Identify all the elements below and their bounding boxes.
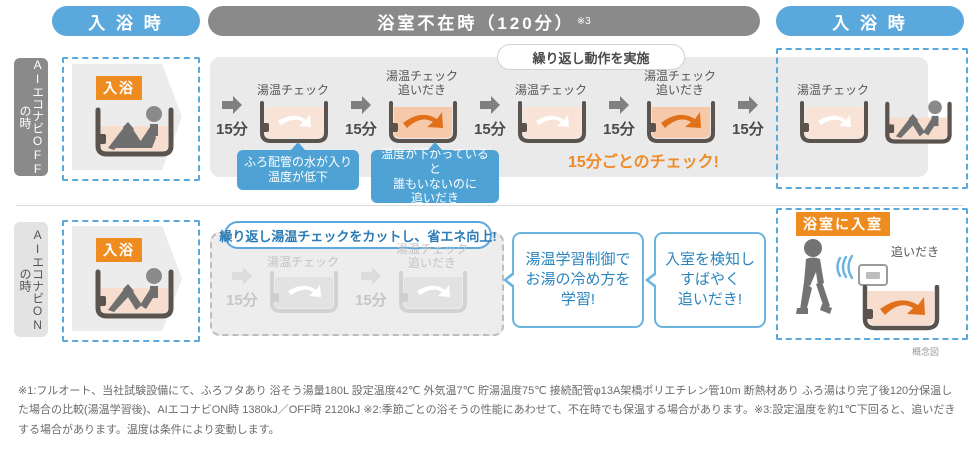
reheat-label-on-text: 追いだき — [891, 245, 939, 259]
callout-2-line1: 温度が下がっていると — [381, 147, 488, 176]
callout-pipe-water-cooling-text: ふろ配管の水が入り 温度が低下 — [244, 155, 352, 184]
callout-detect-entry-text: 入室を検知し すばやく 追いだき! — [665, 250, 755, 311]
interval-label-1-text: 15分 — [216, 121, 248, 138]
concept-diagram-note: 概念図 — [912, 345, 939, 358]
callout-learning-control-text: 湯温学習制御で お湯の冷め方を 学習! — [525, 250, 630, 311]
step-arrow-1-icon — [222, 96, 242, 114]
step-arrow-2-icon — [351, 96, 371, 114]
faded-tub-reheat-2-icon — [395, 271, 471, 316]
faded-interval-1-text: 15分 — [226, 292, 258, 309]
callout-learn-line3: 学習! — [561, 291, 595, 308]
callout-1-line2: 温度が低下 — [268, 170, 328, 184]
faded-step-label-2-line2: 追いだき — [408, 256, 456, 270]
side-label-ai-off: AIエコナビOFFの時 — [14, 58, 48, 176]
step-label-4-line1: 湯温チェック — [644, 69, 716, 83]
interval-label-1: 15分 — [216, 118, 248, 139]
header-pill-bathing-left: 入 浴 時 — [52, 6, 200, 36]
step-label-2: 湯温チェック 追いだき — [382, 70, 462, 98]
callout-detect-line3: 追いだき! — [678, 291, 742, 308]
badge-entering-bathroom-text: 浴室に入室 — [803, 216, 883, 232]
callout-detect-entry: 入室を検知し すばやく 追いだき! — [654, 232, 766, 328]
callout-detect-line1: 入室を検知し — [665, 251, 755, 268]
faded-step-label-2-line1: 湯温チェック — [396, 242, 468, 256]
interval-label-5-text: 15分 — [732, 121, 764, 138]
faded-interval-1: 15分 — [226, 289, 258, 310]
step-label-2-line1: 湯温チェック — [386, 69, 458, 83]
callout-unnecessary-reheat-tip — [428, 142, 442, 150]
step-arrow-5-icon — [738, 96, 758, 114]
step-label-3: 湯温チェック — [511, 84, 591, 98]
emphasis-check-every-15min: 15分ごとのチェック! — [568, 148, 719, 172]
header-left-text: 入 浴 時 — [88, 9, 163, 34]
header-center-text: 浴室不在時（120分） — [377, 9, 574, 34]
callout-learn-line1: 湯温学習制御で — [525, 251, 630, 268]
callout-learn-line2: お湯の冷め方を — [525, 271, 630, 288]
step-label-1: 湯温チェック — [253, 84, 333, 98]
note-pill-repeat-action: 繰り返し動作を実施 — [497, 44, 685, 70]
interval-label-4-text: 15分 — [603, 121, 635, 138]
step-label-4: 湯温チェック 追いだき — [640, 70, 720, 98]
motion-sensor-waves-icon — [836, 254, 858, 280]
tub-reheat-entry-icon — [858, 285, 944, 333]
interval-label-4: 15分 — [603, 118, 635, 139]
side-label-ai-off-text: AIエコナビOFFの時 — [18, 58, 43, 176]
step-arrow-3-icon — [480, 96, 500, 114]
badge-bathing-on-text: 入浴 — [103, 242, 135, 258]
header-right-text: 入 浴 時 — [832, 9, 907, 34]
step-arrow-4-icon — [609, 96, 629, 114]
emphasis-check-every-15min-text: 15分ごとのチェック! — [568, 154, 719, 171]
side-label-ai-on-text: AIエコナビONの時 — [18, 222, 43, 337]
callout-learning-control-tip-inner — [507, 274, 515, 286]
callout-learning-control: 湯温学習制御で お湯の冷め方を 学習! — [512, 232, 644, 328]
interval-label-2: 15分 — [345, 118, 377, 139]
tub-check-1-icon — [256, 101, 332, 146]
faded-step-arrow-1-icon — [232, 267, 252, 285]
callout-detect-entry-tip-inner — [649, 274, 657, 286]
sensor-panel-icon — [858, 264, 888, 286]
person-in-tub-right-off-icon — [878, 92, 958, 150]
badge-entering-bathroom: 浴室に入室 — [796, 212, 890, 236]
faded-interval-2-text: 15分 — [355, 292, 387, 309]
concept-diagram-note-text: 概念図 — [912, 347, 939, 357]
header-pill-absence: 浴室不在時（120分）※3 — [208, 6, 760, 36]
interval-label-3: 15分 — [474, 118, 506, 139]
person-in-tub-on-icon — [88, 258, 180, 326]
faded-step-label-1: 湯温チェック — [263, 256, 343, 270]
step-label-2-line2: 追いだき — [398, 83, 446, 97]
walking-person-icon — [794, 238, 836, 320]
callout-pipe-water-cooling-tip — [291, 142, 305, 150]
side-label-ai-on: AIエコナビONの時 — [14, 222, 48, 337]
diagram-root: 入 浴 時 浴室不在時（120分）※3 入 浴 時 AIエコナビOFFの時 AI… — [0, 0, 980, 457]
callout-2-line2: 誰もいないのに — [393, 177, 477, 191]
tub-reheat-4-icon — [643, 101, 719, 146]
faded-interval-2: 15分 — [355, 289, 387, 310]
interval-label-2-text: 15分 — [345, 121, 377, 138]
callout-pipe-water-cooling: ふろ配管の水が入り 温度が低下 — [237, 150, 359, 190]
callout-unnecessary-reheat-text: 温度が下がっていると 誰もいないのに 追いだき — [377, 147, 493, 206]
callout-unnecessary-reheat: 温度が下がっていると 誰もいないのに 追いだき — [371, 150, 499, 203]
interval-label-5: 15分 — [732, 118, 764, 139]
faded-step-label-1-text: 湯温チェック — [267, 255, 339, 269]
header-center-footnote-marker: ※3 — [577, 16, 591, 27]
faded-tub-check-1-icon — [266, 271, 342, 316]
footnotes: ※1:フルオート、当社試験設備にて、ふろフタあり 浴そう湯量180L 設定温度4… — [18, 382, 962, 440]
step-label-3-line1: 湯温チェック — [515, 83, 587, 97]
faded-step-label-2: 湯温チェック 追いだき — [392, 243, 472, 271]
faded-step-arrow-2-icon — [361, 267, 381, 285]
badge-bathing-off-text: 入浴 — [103, 80, 135, 96]
tub-check-3-icon — [514, 101, 590, 146]
callout-1-line1: ふろ配管の水が入り — [244, 155, 352, 169]
footnotes-text: ※1:フルオート、当社試験設備にて、ふろフタあり 浴そう湯量180L 設定温度4… — [18, 385, 955, 436]
note-pill-repeat-action-text: 繰り返し動作を実施 — [532, 48, 649, 67]
tub-reheat-2-icon — [385, 101, 461, 146]
callout-detect-line2: すばやく — [680, 271, 740, 288]
callout-2-line3: 追いだき — [411, 191, 459, 205]
person-in-tub-off-icon — [88, 96, 180, 164]
step-label-1-line1: 湯温チェック — [257, 83, 329, 97]
header-pill-bathing-right: 入 浴 時 — [776, 6, 964, 36]
interval-label-3-text: 15分 — [474, 121, 506, 138]
step-label-4-line2: 追いだき — [656, 83, 704, 97]
reheat-label-on: 追いだき — [875, 246, 955, 260]
